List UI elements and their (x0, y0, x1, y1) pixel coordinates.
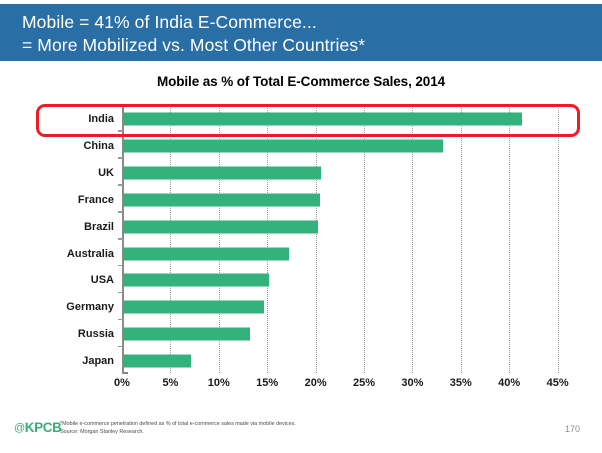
footnote-text: *Mobile e-commerce penetration defined a… (60, 421, 480, 436)
category-label-india: India (6, 113, 114, 125)
bar-chart-plot-area: 0%5%10%15%20%25%30%35%40%45%IndiaChinaUK… (0, 61, 602, 406)
category-label-usa: USA (6, 274, 114, 286)
category-label-australia: Australia (6, 248, 114, 260)
footnote-line-2: Source: Morgan Stanley Research. (60, 429, 480, 437)
category-label-uk: UK (6, 167, 114, 179)
category-label-china: China (6, 140, 114, 152)
category-label-russia: Russia (6, 328, 114, 340)
x-axis-tick-label: 10% (208, 377, 230, 389)
footnote-line-1: *Mobile e-commerce penetration defined a… (60, 421, 480, 429)
chart-container: Mobile as % of Total E-Commerce Sales, 2… (0, 61, 602, 406)
bar-germany (123, 301, 264, 314)
bar-australia (123, 247, 289, 260)
bar-uk (123, 166, 321, 179)
bar-india (123, 113, 522, 126)
bar-russia (123, 328, 250, 341)
x-axis-tick-label: 20% (305, 377, 327, 389)
bar-china (123, 139, 443, 152)
category-label-germany: Germany (6, 301, 114, 313)
gridline (509, 105, 510, 373)
slide-footer: @KPCB *Mobile e-commerce penetration def… (0, 406, 602, 453)
y-axis-minor-tick (118, 319, 123, 321)
x-axis-tick-label: 40% (498, 377, 520, 389)
at-symbol-icon: @ (14, 422, 25, 434)
bar-brazil (123, 220, 318, 233)
y-axis-minor-tick (118, 265, 123, 267)
x-axis-tick-label: 15% (256, 377, 278, 389)
x-axis-tick-label: 35% (450, 377, 472, 389)
kpcb-logo: @KPCB (14, 420, 61, 435)
slide-title-line-2: = More Mobilized vs. Most Other Countrie… (22, 34, 602, 57)
slide-title-line-1: Mobile = 41% of India E-Commerce... (22, 11, 602, 34)
x-axis-tick-label: 0% (114, 377, 130, 389)
bar-japan (123, 355, 191, 368)
x-axis-origin-tick (122, 372, 128, 374)
y-axis-minor-tick (118, 346, 123, 348)
x-axis-tick-label: 45% (547, 377, 569, 389)
page-number: 170 (565, 424, 580, 434)
category-label-france: France (6, 194, 114, 206)
y-axis-minor-tick (118, 238, 123, 240)
y-axis-minor-tick (118, 211, 123, 213)
y-axis-minor-tick (118, 184, 123, 186)
y-axis-minor-tick (118, 157, 123, 159)
x-axis-tick-label: 30% (401, 377, 423, 389)
x-axis-tick-label: 5% (162, 377, 178, 389)
bar-france (123, 193, 320, 206)
category-label-japan: Japan (6, 355, 114, 367)
gridline (461, 105, 462, 373)
bar-usa (123, 274, 269, 287)
slide-header-banner: Mobile = 41% of India E-Commerce... = Mo… (0, 4, 602, 61)
x-axis-tick-label: 25% (353, 377, 375, 389)
y-axis-minor-tick (118, 130, 123, 132)
gridline (558, 105, 559, 373)
y-axis-minor-tick (118, 292, 123, 294)
kpcb-logo-text: KPCB (25, 420, 62, 435)
category-label-brazil: Brazil (6, 221, 114, 233)
